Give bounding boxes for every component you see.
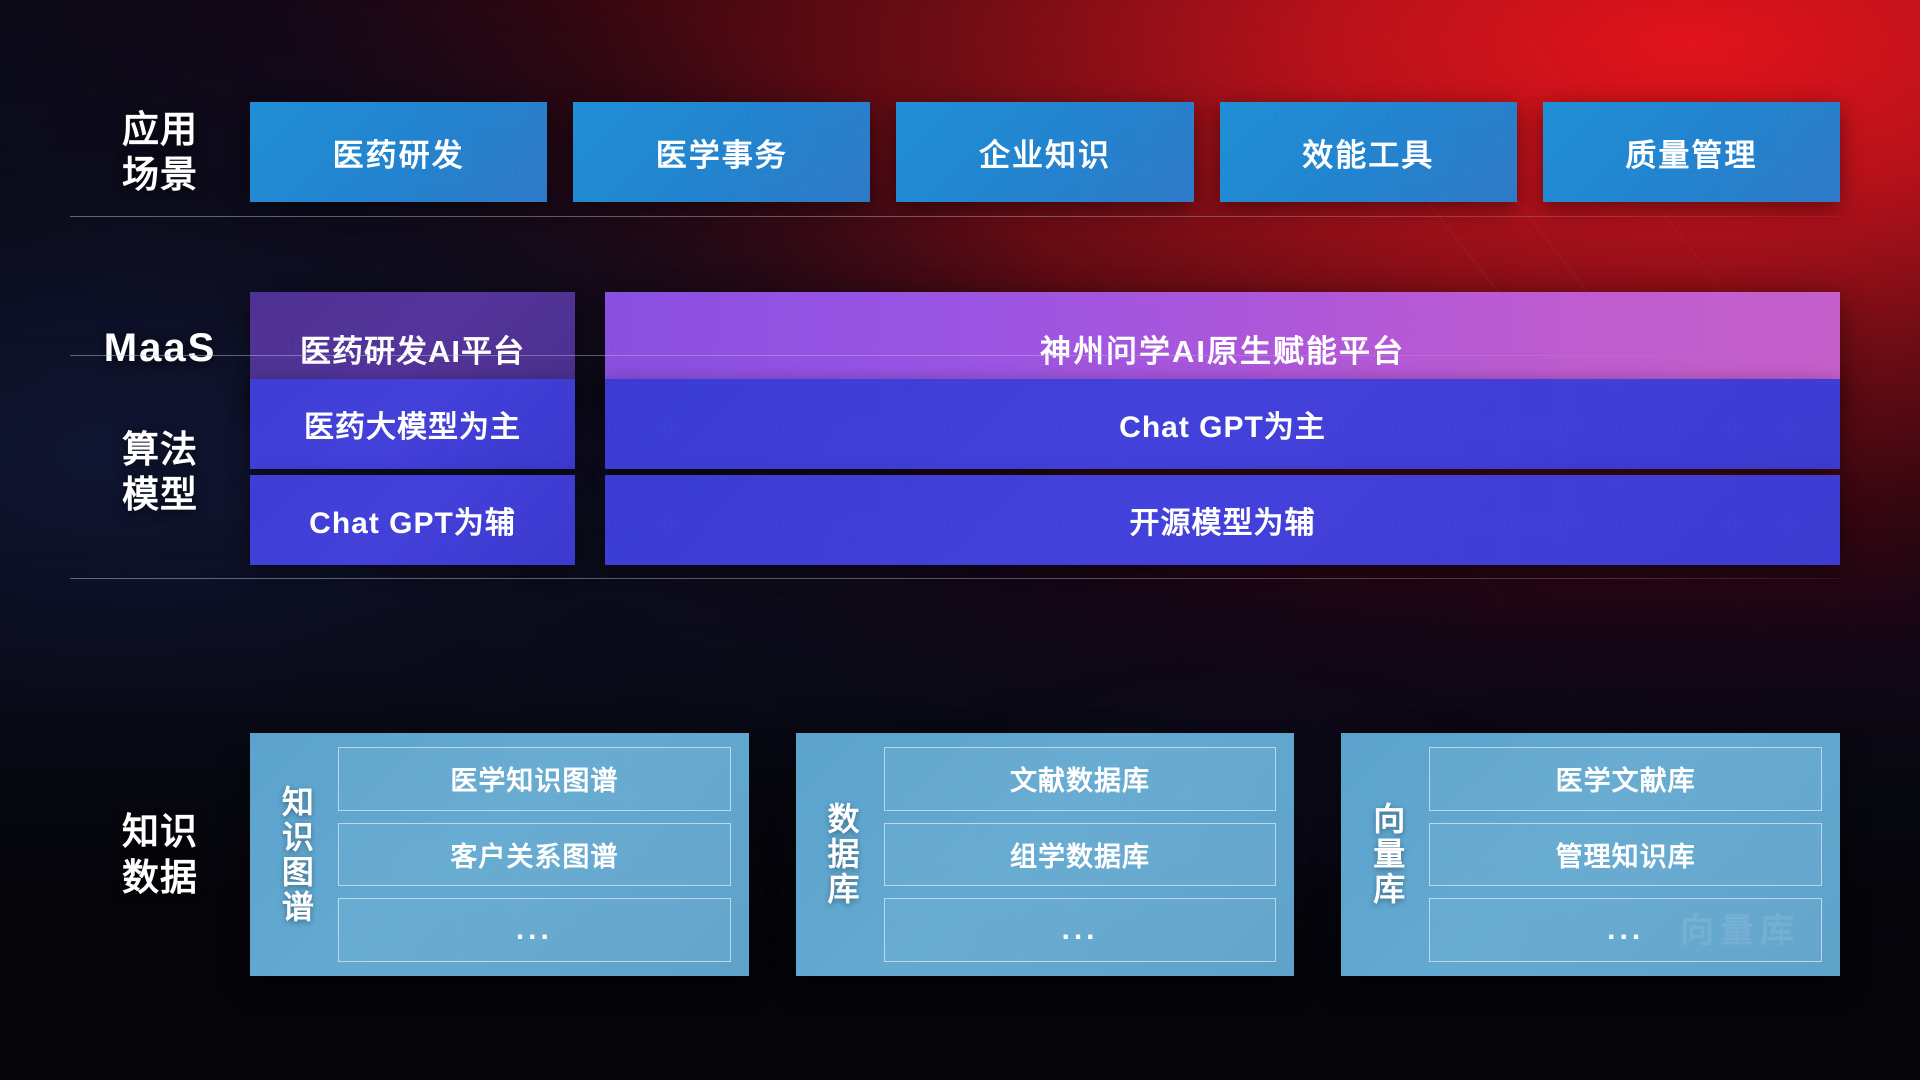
knowledge-group-items: 文献数据库 组学数据库 ...	[884, 747, 1277, 962]
row-application-scenarios: 应用 场景 医药研发 医学事务 企业知识 效能工具 质量管理	[70, 102, 1840, 202]
algo-card-label: 医药大模型为主	[304, 402, 521, 446]
app-card-medical-affairs[interactable]: 医学事务	[573, 102, 870, 202]
knowledge-item-more[interactable]: ...	[1429, 898, 1822, 962]
knowledge-group-knowledge-graph[interactable]: 知识图谱 医学知识图谱 客户关系图谱 ...	[250, 733, 749, 976]
knowledge-item[interactable]: 文献数据库	[884, 747, 1277, 811]
knowledge-group-title: 知识图谱	[264, 747, 326, 962]
row-label-application-scenarios: 应用 场景	[70, 107, 250, 197]
app-card-label: 医学事务	[656, 130, 788, 175]
row-label-knowledge-data-wrap: 知识 数据	[70, 733, 250, 976]
algo-card-label: Chat GPT为辅	[309, 498, 516, 542]
app-card-label: 医药研发	[333, 130, 465, 175]
knowledge-item-label: 组学数据库	[1010, 835, 1150, 874]
knowledge-group-vector-store[interactable]: 向量库 医学文献库 管理知识库 ...	[1341, 733, 1840, 976]
knowledge-item-label: 文献数据库	[1010, 759, 1150, 798]
app-card-efficiency-tools[interactable]: 效能工具	[1220, 102, 1517, 202]
row-algorithm-secondary: Chat GPT为辅 开源模型为辅	[70, 475, 1840, 565]
knowledge-item-label: 管理知识库	[1556, 835, 1696, 874]
app-card-label: 效能工具	[1302, 130, 1434, 175]
knowledge-item-more[interactable]: ...	[884, 898, 1277, 962]
row-label-knowledge-data: 知识 数据	[70, 809, 250, 899]
algo-card-label: 开源模型为辅	[1130, 498, 1316, 542]
knowledge-item-label: 医学知识图谱	[450, 759, 618, 798]
knowledge-item[interactable]: 管理知识库	[1429, 823, 1822, 887]
algo-card-pharma-large-model-primary[interactable]: 医药大模型为主	[250, 379, 575, 469]
algo-card-chatgpt-primary[interactable]: Chat GPT为主	[605, 379, 1840, 469]
architecture-diagram: 应用 场景 医药研发 医学事务 企业知识 效能工具 质量管理	[0, 0, 1920, 1080]
knowledge-group-title: 数据库	[810, 747, 872, 962]
app-card-quality-management[interactable]: 质量管理	[1543, 102, 1840, 202]
algo-card-label: Chat GPT为主	[1119, 402, 1326, 446]
algorithm-secondary-cards: Chat GPT为辅 开源模型为辅	[250, 475, 1840, 565]
algorithm-primary-cards: 医药大模型为主 Chat GPT为主	[250, 379, 1840, 469]
knowledge-group-items: 医学文献库 管理知识库 ...	[1429, 747, 1822, 962]
application-cards: 医药研发 医学事务 企业知识 效能工具 质量管理	[250, 102, 1840, 202]
knowledge-item[interactable]: 组学数据库	[884, 823, 1277, 887]
algo-card-chatgpt-secondary[interactable]: Chat GPT为辅	[250, 475, 575, 565]
knowledge-item-label: 医学文献库	[1556, 759, 1696, 798]
divider-maas-algorithm	[70, 355, 1840, 356]
knowledge-item-more[interactable]: ...	[338, 898, 731, 962]
row-label-maas: MaaS	[70, 324, 250, 373]
knowledge-item[interactable]: 客户关系图谱	[338, 823, 731, 887]
app-card-label: 企业知识	[979, 130, 1111, 175]
knowledge-item-label: 客户关系图谱	[450, 835, 618, 874]
knowledge-item[interactable]: 医学文献库	[1429, 747, 1822, 811]
divider-algorithm-knowledge	[70, 578, 1840, 579]
row-algorithm-primary: 医药大模型为主 Chat GPT为主	[70, 379, 1840, 469]
app-card-medicine-rd[interactable]: 医药研发	[250, 102, 547, 202]
knowledge-item[interactable]: 医学知识图谱	[338, 747, 731, 811]
knowledge-item-label: ...	[1607, 913, 1644, 947]
knowledge-group-title: 向量库	[1355, 747, 1417, 962]
maas-card-label: 医药研发AI平台	[300, 326, 525, 371]
app-card-enterprise-knowledge[interactable]: 企业知识	[896, 102, 1193, 202]
knowledge-item-label: ...	[1062, 913, 1099, 947]
knowledge-item-label: ...	[516, 913, 553, 947]
maas-card-label: 神州问学AI原生赋能平台	[1040, 326, 1405, 371]
algo-card-opensource-secondary[interactable]: 开源模型为辅	[605, 475, 1840, 565]
app-card-label: 质量管理	[1625, 130, 1757, 175]
knowledge-group-database[interactable]: 数据库 文献数据库 组学数据库 ...	[796, 733, 1295, 976]
knowledge-group-items: 医学知识图谱 客户关系图谱 ...	[338, 747, 731, 962]
divider-application-maas	[70, 216, 1840, 217]
slide-canvas: 应用 场景 医药研发 医学事务 企业知识 效能工具 质量管理	[0, 0, 1920, 1080]
knowledge-groups: 知识图谱 医学知识图谱 客户关系图谱 ... 数据库	[250, 733, 1840, 976]
